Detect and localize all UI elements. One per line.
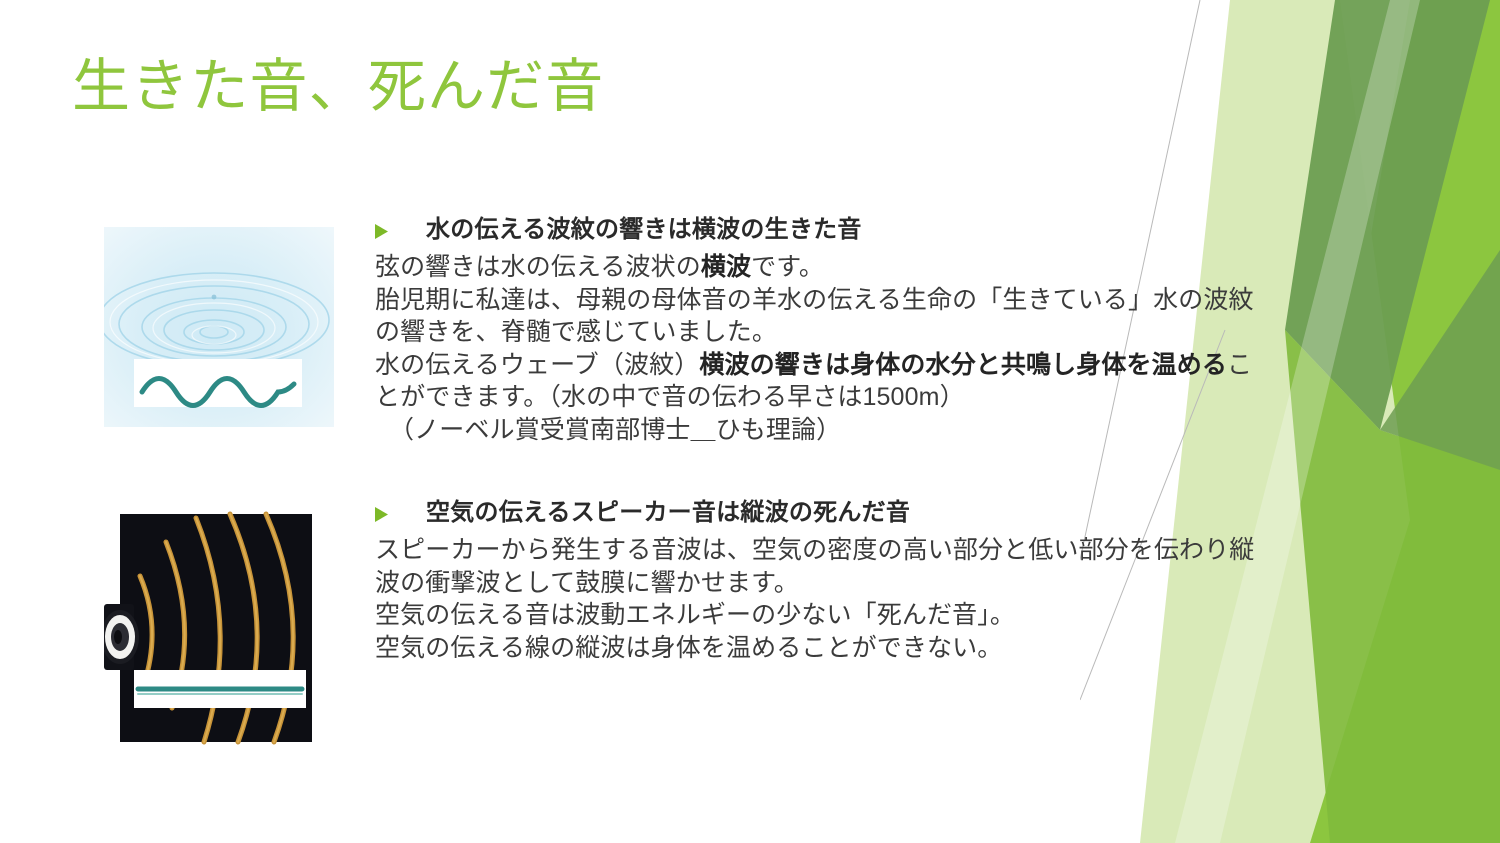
triangle-right-icon [375, 224, 388, 239]
speaker-cone [104, 604, 139, 670]
speaker-soundwave-illustration [104, 508, 316, 748]
section-1-heading: 水の伝える波紋の響きは横波の生きた音 [426, 215, 862, 245]
section-1-heading-row: 水の伝える波紋の響きは横波の生きた音 [375, 215, 1290, 245]
slide-title: 生きた音、死んだ音 [72, 54, 604, 121]
body-line: スピーカーから発生する音波は、空気の密度の高い部分と低い部分を伝わり縦 [375, 534, 1290, 567]
body-line: 弦の響きは水の伝える波状の横波です。 [375, 251, 1290, 284]
water-ripple-illustration [104, 227, 334, 427]
section-1-text-column: 水の伝える波紋の響きは横波の生きた音 弦の響きは水の伝える波状の横波です。 胎児… [375, 215, 1290, 446]
facet-shape-olive-wedge [1380, 250, 1500, 470]
body-line: 胎児期に私達は、母親の母体音の羊水の伝える生命の「生きている」水の波紋 [375, 284, 1290, 317]
body-line: （ノーベル賞受賞南部博士＿ひも理論） [375, 414, 1290, 447]
section-1-body: 弦の響きは水の伝える波状の横波です。 胎児期に私達は、母親の母体音の羊水の伝える… [375, 251, 1290, 446]
facet-shape-bright-right [1270, 0, 1500, 843]
facet-shape-olive-top [1285, 0, 1490, 430]
triangle-right-glyph [375, 507, 388, 522]
body-line: の響きを、脊髄で感じていました。 [375, 316, 1290, 349]
section-2-text-column: 空気の伝えるスピーカー音は縦波の死んだ音 スピーカーから発生する音波は、空気の密… [375, 498, 1290, 664]
speaker-soundwave-image [104, 508, 316, 748]
body-line: 空気の伝える音は波動エネルギーの少ない「死んだ音」。 [375, 599, 1290, 632]
section-2-heading-row: 空気の伝えるスピーカー音は縦波の死んだ音 [375, 498, 1290, 528]
section-2-heading: 空気の伝えるスピーカー音は縦波の死んだ音 [426, 498, 910, 528]
facet-shape-mid-green [1285, 330, 1500, 843]
body-line: 空気の伝える線の縦波は身体を温めることができない。 [375, 632, 1290, 665]
section-2-body: スピーカーから発生する音波は、空気の密度の高い部分と低い部分を伝わり縦 波の衝撃… [375, 534, 1290, 664]
triangle-right-glyph [375, 224, 388, 239]
body-line: 水の伝えるウェーブ（波紋）横波の響きは身体の水分と共鳴し身体を温めるこ [375, 349, 1290, 382]
body-line: とができます。（水の中で音の伝わる早さは1500m） [375, 381, 1290, 414]
presentation-slide: 生きた音、死んだ音 [0, 0, 1500, 843]
triangle-right-icon [375, 507, 388, 522]
body-line: 波の衝撃波として鼓膜に響かせます。 [375, 567, 1290, 600]
water-ripple-wave-image [104, 227, 334, 427]
